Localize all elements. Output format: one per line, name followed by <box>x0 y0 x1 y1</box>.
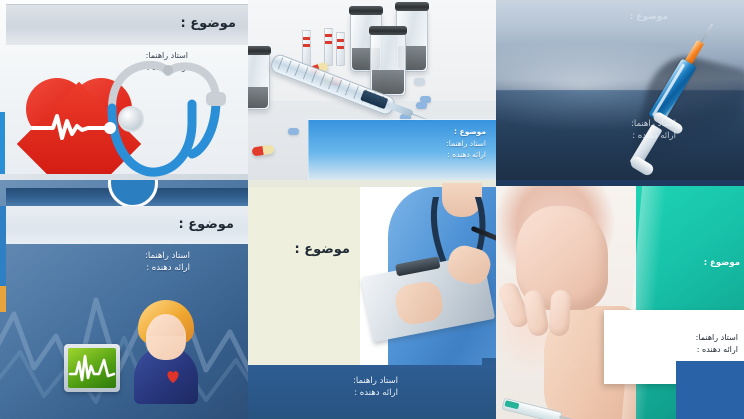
finger <box>548 289 571 336</box>
vial-lid <box>369 26 407 35</box>
slide5-credits: استاد راهنما: ارائه دهنده : <box>353 375 398 400</box>
vial-fluid <box>248 87 268 108</box>
slide3-header-bar: موضوع : <box>6 4 248 45</box>
stethoscope-chestpiece-icon <box>118 106 144 132</box>
slide4-subject-label: موضوع : <box>704 258 740 268</box>
vial-lid <box>248 46 271 55</box>
slide3-left-accent-bar <box>0 112 5 180</box>
slide4-corner-accent <box>676 361 744 419</box>
slide2-credits: موضوع : استاد راهنما: ارائه دهنده : <box>446 126 486 161</box>
slide5-footer-bar: استاد راهنما: ارائه دهنده : <box>248 365 496 419</box>
slide6-left-accent-blue <box>0 206 6 286</box>
slide6-presenter-label: ارائه دهنده : <box>145 262 190 274</box>
vaccination-photo <box>496 186 636 419</box>
heart-badge-icon <box>166 370 180 383</box>
slide6-supervisor-label: استاد راهنما: <box>145 250 190 262</box>
nurse-avatar-icon <box>120 292 212 402</box>
vial-lid <box>395 2 429 11</box>
slide4-supervisor-label: استاد راهنما: <box>696 332 738 344</box>
slide2-subject-label: موضوع : <box>446 126 486 138</box>
slide2-presenter-label: ارائه دهنده : <box>446 149 486 161</box>
syringe-icon <box>612 18 732 180</box>
template-thumbnail-grid: موضوع : استاد راهنما: ارائه دهنده : <box>0 0 744 419</box>
monitor-screen <box>68 348 116 388</box>
slide6-credits: استاد راهنما: ارائه دهنده : <box>145 250 190 275</box>
slide-thumbnail-heart-stethoscope[interactable]: موضوع : استاد راهنما: ارائه دهنده : <box>0 0 248 180</box>
slide6-left-accent-orange <box>0 286 6 312</box>
syringe-nozzle <box>389 102 414 117</box>
vial-lid <box>349 6 383 15</box>
slide4-credits: استاد راهنما: ارائه دهنده : <box>696 332 738 355</box>
slide5-subject-label: موضوع : <box>294 242 350 257</box>
monitor-ecg-trace <box>68 348 116 388</box>
tablet-icon <box>414 78 425 85</box>
slide1-subject-label: موضوع : <box>630 12 668 22</box>
slide6-title-bar: موضوع : <box>6 206 248 244</box>
slide1-presenter-label: ارائه دهنده : <box>631 130 676 142</box>
slide2-supervisor-label: استاد راهنما: <box>446 138 486 150</box>
slide-thumbnail-ecg-avatar[interactable]: موضوع : استاد راهنما: ارائه دهنده : <box>0 180 248 419</box>
slide5-supervisor-label: استاد راهنما: <box>353 375 398 387</box>
slide5-corner-notch <box>482 358 496 365</box>
slide1-supervisor-label: استاد راهنما: <box>631 118 676 130</box>
nurse-photo <box>360 187 496 365</box>
slide6-subject-label: موضوع : <box>178 217 234 232</box>
slide3-subject-label: موضوع : <box>180 16 236 31</box>
slide-thumbnail-nurse-clipboard[interactable]: موضوع : استاد راهنما: ارائه دهنده : <box>248 180 496 419</box>
slide5-presenter-label: ارائه دهنده : <box>353 387 398 399</box>
slide1-credits: استاد راهنما: ارائه دهنده : <box>631 118 676 143</box>
slide-thumbnail-vials-pills[interactable]: موضوع : استاد راهنما: ارائه دهنده : <box>248 0 496 180</box>
syringe-needle <box>559 416 581 419</box>
tablet-icon <box>288 128 299 135</box>
slide-thumbnail-teal-vaccination[interactable]: موضوع : استاد راهنما: ارائه دهنده : <box>496 180 744 419</box>
slide2-text-banner: موضوع : استاد راهنما: ارائه دهنده : <box>308 119 496 180</box>
slide4-presenter-label: ارائه دهنده : <box>696 344 738 356</box>
heart-monitor-icon <box>64 344 120 392</box>
slide-thumbnail-syringe-blue[interactable]: موضوع : استاد راهنما: ارائه دهنده : <box>496 0 744 180</box>
